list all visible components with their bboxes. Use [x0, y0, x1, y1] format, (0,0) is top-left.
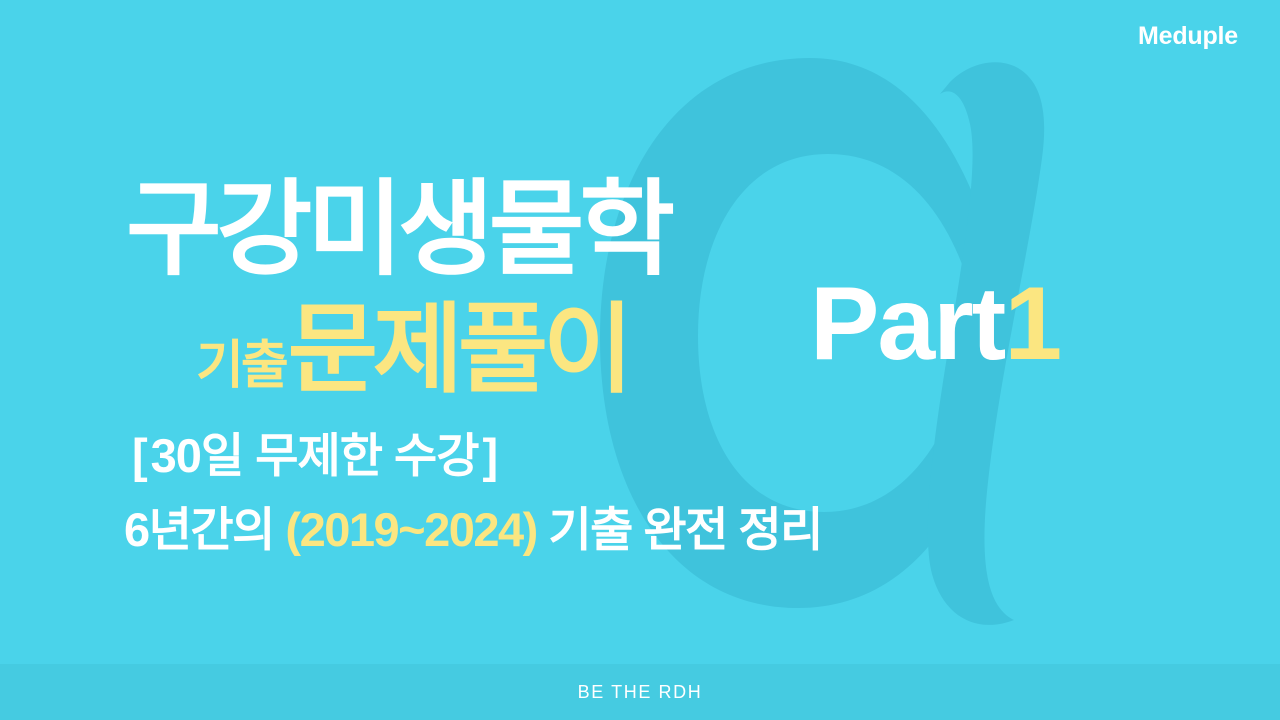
bracket-open: [	[128, 432, 151, 479]
years-suffix: 기출 완전 정리	[548, 503, 822, 556]
headline-solve-row: 기출 문제풀이	[196, 300, 628, 398]
headline-subject: 구강미생물학	[126, 178, 670, 282]
headline-block: 구강미생물학 기출 문제풀이 Part1 [30일 무제한 수강] 6년간의 (…	[0, 0, 1280, 664]
years-prefix: 6년간의	[124, 503, 274, 556]
headline-part-row: Part1	[810, 272, 1060, 376]
year-range: (2019~2024)	[285, 503, 536, 556]
headline-kicker: 기출	[196, 340, 286, 392]
headline-solve: 문제풀이	[288, 300, 629, 398]
headline-access-note: [30일 무제한 수강]	[128, 432, 501, 479]
course-promo-banner: Meduple 구강미생물학 기출 문제풀이 Part1 [30일 무제한 수강…	[0, 0, 1280, 720]
access-duration-text: 30일 무제한 수강	[151, 429, 479, 482]
footer-band: BE THE RDH	[0, 664, 1280, 720]
headline-coverage-note: 6년간의 (2019~2024) 기출 완전 정리	[124, 506, 822, 553]
footer-tagline: BE THE RDH	[578, 683, 703, 701]
bracket-close: ]	[479, 432, 502, 479]
part-word: Part	[810, 266, 1004, 382]
part-number: 1	[1004, 266, 1060, 382]
